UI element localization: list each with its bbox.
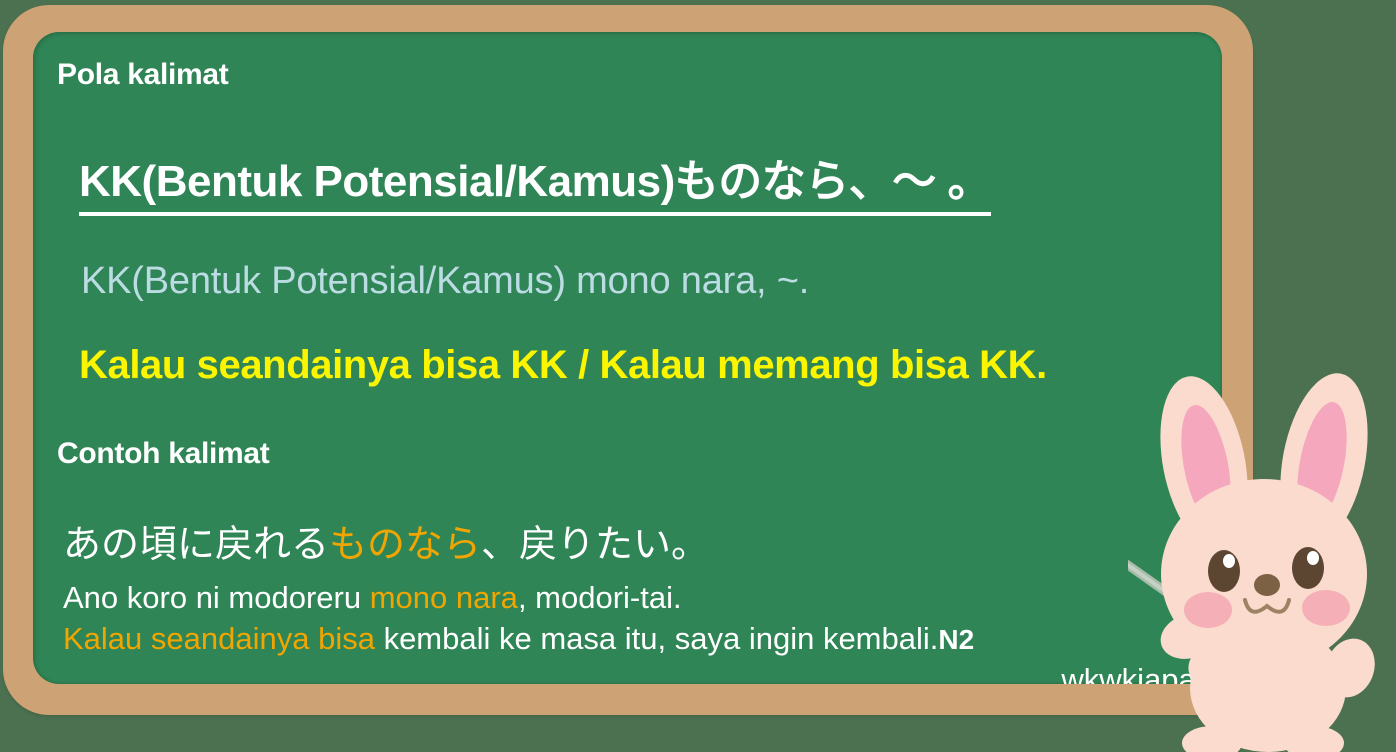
chalkboard-wooden-frame: Pola kalimat KK(Bentuk Potensial/Kamus)も… [3,5,1253,715]
grammar-pattern-romaji: KK(Bentuk Potensial/Kamus) mono nara, ~. [81,260,809,303]
example-jp-before: あの頃に戻れる [63,524,329,566]
rabbit-right-eye [1292,547,1324,589]
chalkboard-surface: Pola kalimat KK(Bentuk Potensial/Kamus)も… [33,32,1222,684]
example-romaji-highlight: mono nara [370,580,518,615]
rabbit-nose-icon [1254,574,1280,596]
example-romaji-sentence: Ano koro ni modoreru mono nara, modori-t… [63,580,682,616]
rabbit-left-eye [1208,550,1240,592]
jlpt-level-badge: N2 [938,624,974,655]
rabbit-head [1161,479,1367,669]
pattern-section-heading: Pola kalimat [57,58,228,92]
rabbit-right-blush [1302,590,1350,626]
example-jp-highlight: ものなら [329,524,481,566]
example-id-after: kembali ke masa itu, saya ingin kembali. [375,621,938,656]
example-indonesian-translation: Kalau seandainya bisa kembali ke masa it… [63,621,974,657]
example-romaji-after: , modori-tai. [518,580,682,615]
example-id-highlight: Kalau seandainya bisa [63,621,375,656]
rabbit-left-blush [1184,592,1232,628]
example-jp-after: 、戻りたい。 [481,524,709,566]
example-japanese-sentence: あの頃に戻れるものなら、戻りたい。 [63,513,709,568]
grammar-pattern-meaning: Kalau seandainya bisa KK / Kalau memang … [79,343,1047,388]
example-section-heading: Contoh kalimat [57,437,269,471]
example-romaji-before: Ano koro ni modoreru [63,580,370,615]
grammar-pattern-main: KK(Bentuk Potensial/Kamus)ものなら、〜 。 [79,145,991,216]
rabbit-mascot [1128,368,1396,752]
